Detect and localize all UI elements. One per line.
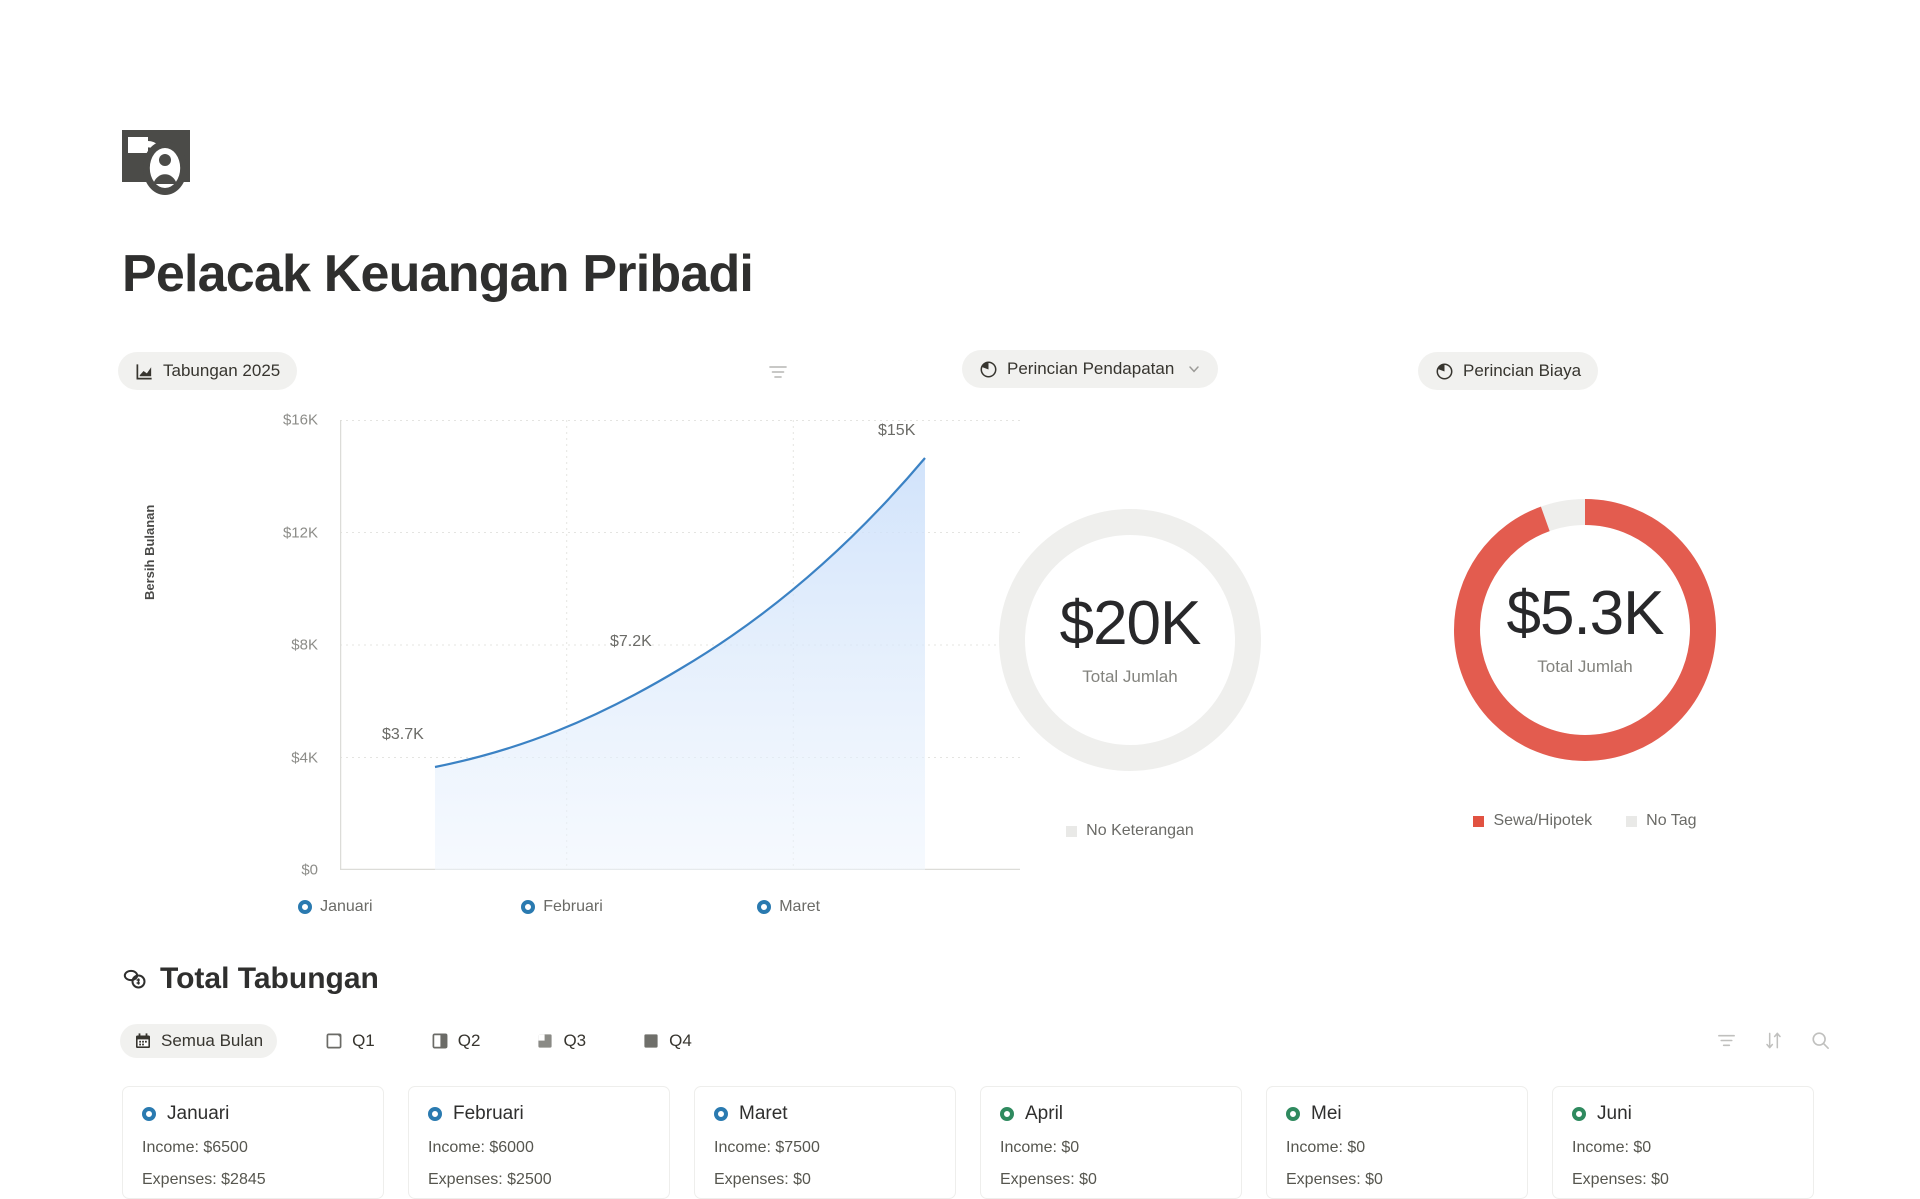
- bar-chart-icon: [135, 362, 154, 381]
- tab-semua-bulan[interactable]: Semua Bulan: [120, 1024, 277, 1058]
- chart-plot-area: $3.7K $7.2K $15K: [340, 420, 1020, 870]
- month-filter-tabs: Semua Bulan Q1 Q2 Q3: [120, 1024, 706, 1058]
- chart-x-legend-item-maret[interactable]: Maret: [675, 898, 902, 916]
- tab-q1-label: Q1: [352, 1031, 375, 1051]
- tab-q2-label: Q2: [458, 1031, 481, 1051]
- tab-semua-bulan-label: Semua Bulan: [161, 1031, 263, 1051]
- card-title: Januari: [167, 1103, 229, 1125]
- tab-perincian-pendapatan-label: Perincian Pendapatan: [1007, 359, 1174, 379]
- expense-donut: $5.3K Total Jumlah: [1445, 490, 1725, 770]
- income-donut-panel: $20K Total Jumlah No Keterangan: [930, 500, 1330, 840]
- total-tabungan-section-header: Total Tabungan: [122, 962, 379, 996]
- legend-label: No Tag: [1646, 812, 1696, 830]
- legend-swatch: [1473, 816, 1484, 827]
- chart-x-legend-item-januari[interactable]: Januari: [222, 898, 449, 916]
- chart-area-fill: [435, 458, 925, 870]
- card-title: Februari: [453, 1103, 524, 1125]
- chart-x-legend-item-februari[interactable]: Februari: [449, 898, 676, 916]
- ring-marker-icon: [142, 1107, 156, 1121]
- sort-icon[interactable]: [1763, 1030, 1784, 1051]
- legend-item-no-keterangan[interactable]: No Keterangan: [1066, 822, 1194, 840]
- legend-label: Sewa/Hipotek: [1493, 812, 1592, 830]
- month-cards-grid: Januari Income: $6500 Expenses: $2845 Fe…: [122, 1086, 1814, 1199]
- tab-q3-label: Q3: [563, 1031, 586, 1051]
- y-tick-8k: $8K: [248, 637, 318, 654]
- chevron-down-icon: [1187, 362, 1201, 376]
- card-expenses: Expenses: $0: [1572, 1171, 1794, 1189]
- tab-tabungan-2025-label: Tabungan 2025: [163, 361, 280, 381]
- list-item[interactable]: Februari Income: $6000 Expenses: $2500: [408, 1086, 670, 1199]
- chart-point-label-januari: $3.7K: [382, 726, 424, 744]
- pie-chart-icon: [979, 360, 998, 379]
- tab-tabungan-2025[interactable]: Tabungan 2025: [118, 352, 297, 390]
- card-title: April: [1025, 1103, 1063, 1125]
- ring-marker-icon: [521, 900, 535, 914]
- page-title: Pelacak Keuangan Pribadi: [122, 244, 753, 304]
- square-quarter-3-icon: [536, 1032, 554, 1050]
- expense-donut-legend: Sewa/Hipotek No Tag: [1385, 812, 1785, 830]
- tab-q2[interactable]: Q2: [417, 1024, 495, 1058]
- tab-q4[interactable]: Q4: [628, 1024, 706, 1058]
- income-donut: $20K Total Jumlah: [990, 500, 1270, 780]
- list-item[interactable]: Maret Income: $7500 Expenses: $0: [694, 1086, 956, 1199]
- income-total-value: $20K: [1060, 593, 1201, 655]
- income-donut-legend: No Keterangan: [930, 822, 1330, 840]
- expense-total-sublabel: Total Jumlah: [1537, 657, 1632, 677]
- y-tick-0: $0: [248, 862, 318, 879]
- card-expenses: Expenses: $0: [714, 1171, 936, 1189]
- pie-chart-icon: [1435, 362, 1454, 381]
- chart-x-legend: Januari Februari Maret: [222, 898, 902, 916]
- savings-area-chart: $16K $12K $8K $4K $0: [118, 420, 908, 920]
- square-quarter-2-icon: [431, 1032, 449, 1050]
- chart-svg: [340, 420, 1020, 870]
- tab-q1[interactable]: Q1: [311, 1024, 389, 1058]
- chart-x-legend-label: Januari: [320, 898, 372, 916]
- card-expenses: Expenses: $0: [1286, 1171, 1508, 1189]
- y-tick-12k: $12K: [248, 524, 318, 541]
- legend-swatch: [1626, 816, 1637, 827]
- list-item[interactable]: April Income: $0 Expenses: $0: [980, 1086, 1242, 1199]
- chart-x-legend-label: Februari: [543, 898, 603, 916]
- y-tick-16k: $16K: [248, 412, 318, 429]
- square-quarter-1-icon: [325, 1032, 343, 1050]
- card-income: Income: $6000: [428, 1139, 650, 1157]
- chart-point-label-maret: $15K: [878, 422, 915, 440]
- card-income: Income: $0: [1000, 1139, 1222, 1157]
- ring-marker-icon: [714, 1107, 728, 1121]
- expense-donut-panel: $5.3K Total Jumlah Sewa/Hipotek No Tag: [1385, 490, 1785, 830]
- page-header: Pelacak Keuangan Pribadi: [122, 130, 753, 304]
- tab-q4-label: Q4: [669, 1031, 692, 1051]
- tab-q3[interactable]: Q3: [522, 1024, 600, 1058]
- chart-point-label-februari: $7.2K: [610, 633, 652, 651]
- chart-y-ticks: $16K $12K $8K $4K $0: [218, 420, 318, 870]
- income-total-sublabel: Total Jumlah: [1082, 667, 1177, 687]
- card-expenses: Expenses: $2845: [142, 1171, 364, 1189]
- ring-marker-icon: [757, 900, 771, 914]
- chart-filter-button[interactable]: [767, 361, 789, 383]
- ring-marker-icon: [428, 1107, 442, 1121]
- money-person-icon: [122, 130, 226, 202]
- chart-x-legend-label: Maret: [779, 898, 820, 916]
- card-income: Income: $6500: [142, 1139, 364, 1157]
- square-quarter-4-icon: [642, 1032, 660, 1050]
- ring-marker-icon: [1572, 1107, 1586, 1121]
- card-title: Maret: [739, 1103, 788, 1125]
- section-title: Total Tabungan: [160, 962, 379, 996]
- ring-marker-icon: [1286, 1107, 1300, 1121]
- tab-perincian-pendapatan[interactable]: Perincian Pendapatan: [962, 350, 1218, 388]
- tab-perincian-biaya[interactable]: Perincian Biaya: [1418, 352, 1598, 390]
- list-item[interactable]: Januari Income: $6500 Expenses: $2845: [122, 1086, 384, 1199]
- filter-icon: [767, 361, 789, 383]
- legend-swatch: [1066, 826, 1077, 837]
- legend-label: No Keterangan: [1086, 822, 1194, 840]
- card-income: Income: $0: [1572, 1139, 1794, 1157]
- y-tick-4k: $4K: [248, 749, 318, 766]
- expense-total-value: $5.3K: [1506, 583, 1663, 645]
- list-item[interactable]: Juni Income: $0 Expenses: $0: [1552, 1086, 1814, 1199]
- table-toolbar: [1716, 1030, 1831, 1051]
- list-item[interactable]: Mei Income: $0 Expenses: $0: [1266, 1086, 1528, 1199]
- card-title: Mei: [1311, 1103, 1342, 1125]
- legend-item-no-tag[interactable]: No Tag: [1626, 812, 1696, 830]
- search-icon[interactable]: [1810, 1030, 1831, 1051]
- ring-marker-icon: [1000, 1107, 1014, 1121]
- app-page: Pelacak Keuangan Pribadi Tabungan 2025 P…: [0, 0, 1920, 1199]
- ring-marker-icon: [298, 900, 312, 914]
- coins-icon: [122, 966, 148, 992]
- filter-icon[interactable]: [1716, 1030, 1737, 1051]
- calendar-icon: [134, 1032, 152, 1050]
- card-income: Income: $0: [1286, 1139, 1508, 1157]
- legend-item-sewa-hipotek[interactable]: Sewa/Hipotek: [1473, 812, 1592, 830]
- card-title: Juni: [1597, 1103, 1632, 1125]
- card-expenses: Expenses: $0: [1000, 1171, 1222, 1189]
- card-income: Income: $7500: [714, 1139, 936, 1157]
- tab-perincian-biaya-label: Perincian Biaya: [1463, 361, 1581, 381]
- card-expenses: Expenses: $2500: [428, 1171, 650, 1189]
